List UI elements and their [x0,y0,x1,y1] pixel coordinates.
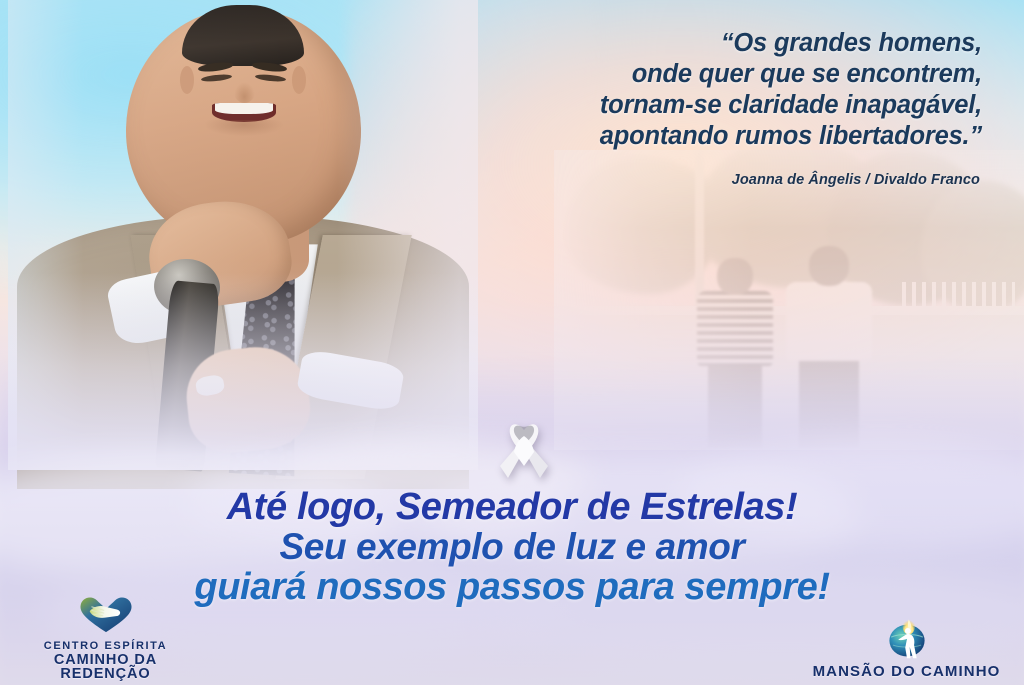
portrait-fade-overlay [8,0,478,470]
logo-caption-line-2: CAMINHO DA REDENÇÃO [8,653,203,681]
globe-figure-icon [799,616,1014,665]
headline-line-2: Seu exemplo de luz e amor [0,527,1024,567]
headline-line-1: Até logo, Semeador de Estrelas! [0,487,1024,527]
quote-line-4: apontando rumos libertadores.” [422,121,982,152]
logo-mansao-do-caminho: MANSÃO DO CAMINHO [799,616,1014,679]
logo-centro-espirita: CENTRO ESPÍRITA CAMINHO DA REDENÇÃO [8,594,203,681]
quote-text: “Os grandes homens, onde quer que se enc… [422,28,982,152]
quote-line-1: “Os grandes homens, [422,28,982,59]
background-photo-two-people-walking [554,150,1024,450]
background-photo-fade [554,150,1024,450]
mourning-ribbon-icon [494,410,554,482]
heart-hand-icon [8,594,203,639]
quote-line-3: tornam-se claridade inapagável, [422,90,982,121]
quote-attribution: Joanna de Ângelis / Divaldo Franco [420,172,980,188]
portrait-divaldo-franco [8,0,478,470]
memorial-poster: “Os grandes homens, onde quer que se enc… [0,0,1024,685]
headline-text: Até logo, Semeador de Estrelas! Seu exem… [0,487,1024,607]
quote-line-2: onde quer que se encontrem, [422,59,982,90]
logo-caption-mansao: MANSÃO DO CAMINHO [799,665,1014,679]
logo-caption-line-1: CENTRO ESPÍRITA [8,639,203,653]
